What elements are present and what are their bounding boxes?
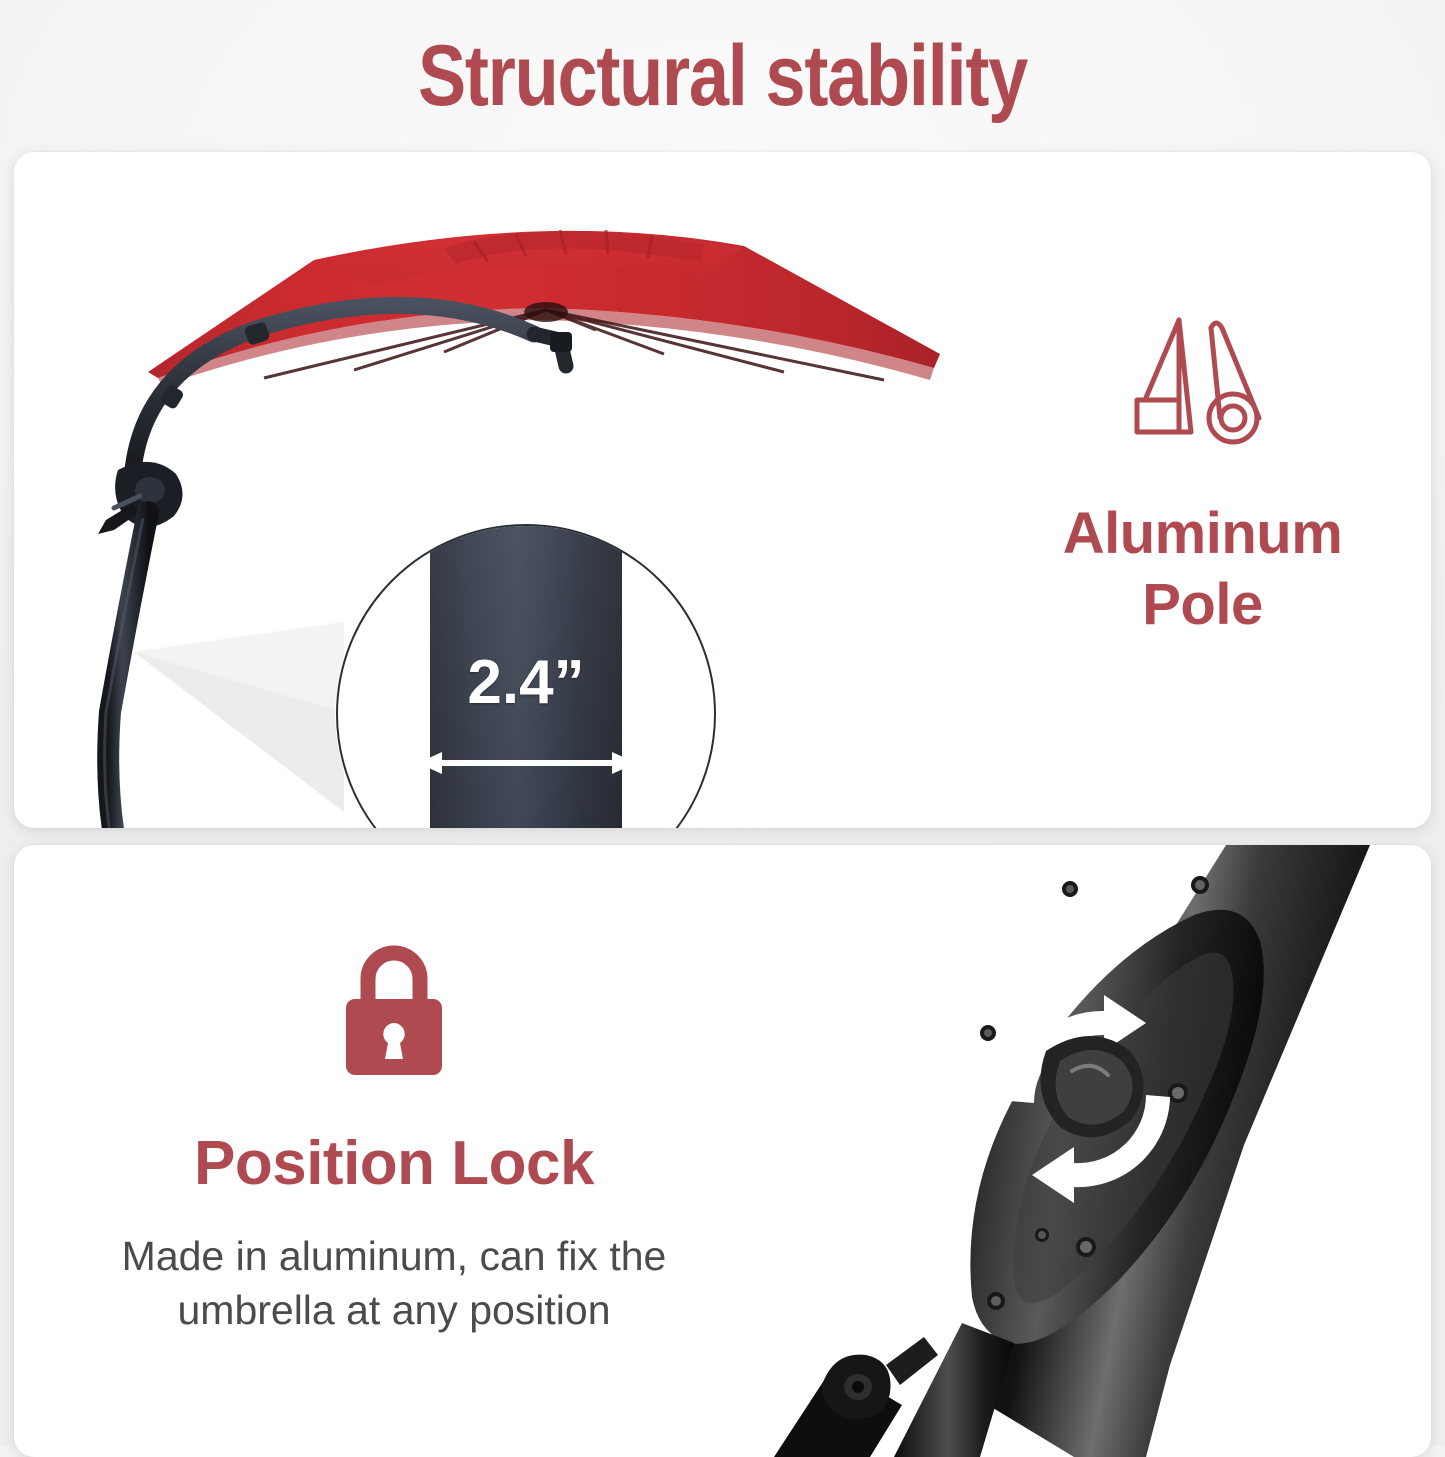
pole-diameter-label: 2.4” bbox=[430, 652, 622, 714]
page-header: Structural stability bbox=[0, 0, 1445, 152]
structural-feature-card-bottom: Position Lock Made in aluminum, can fix … bbox=[14, 845, 1431, 1457]
hinge-close-up-photo bbox=[774, 845, 1431, 1457]
feature-title-line-2: Pole bbox=[1142, 572, 1263, 637]
feature-aluminum-pole: Aluminum Pole bbox=[974, 152, 1431, 828]
pole-width-arrow bbox=[416, 748, 638, 778]
structural-feature-card-top: 2.4” bbox=[14, 152, 1431, 828]
feature-description-line-2: umbrella at any position bbox=[177, 1287, 610, 1333]
feature-position-lock: Position Lock Made in aluminum, can fix … bbox=[14, 845, 774, 1457]
page-title: Structural stability bbox=[418, 27, 1027, 126]
umbrella-product-photo: 2.4” bbox=[14, 152, 974, 828]
aluminum-pole-icon bbox=[1123, 314, 1283, 446]
feature-description-position-lock: Made in aluminum, can fix the umbrella a… bbox=[122, 1229, 667, 1337]
feature-title-line-1: Aluminum bbox=[1063, 501, 1343, 566]
umbrella-canopy bbox=[144, 202, 944, 387]
padlock-icon bbox=[338, 941, 450, 1081]
feature-description-line-1: Made in aluminum, can fix the bbox=[122, 1233, 667, 1279]
feature-title-aluminum-pole: Aluminum Pole bbox=[1063, 498, 1343, 641]
feature-title-position-lock: Position Lock bbox=[194, 1133, 594, 1195]
